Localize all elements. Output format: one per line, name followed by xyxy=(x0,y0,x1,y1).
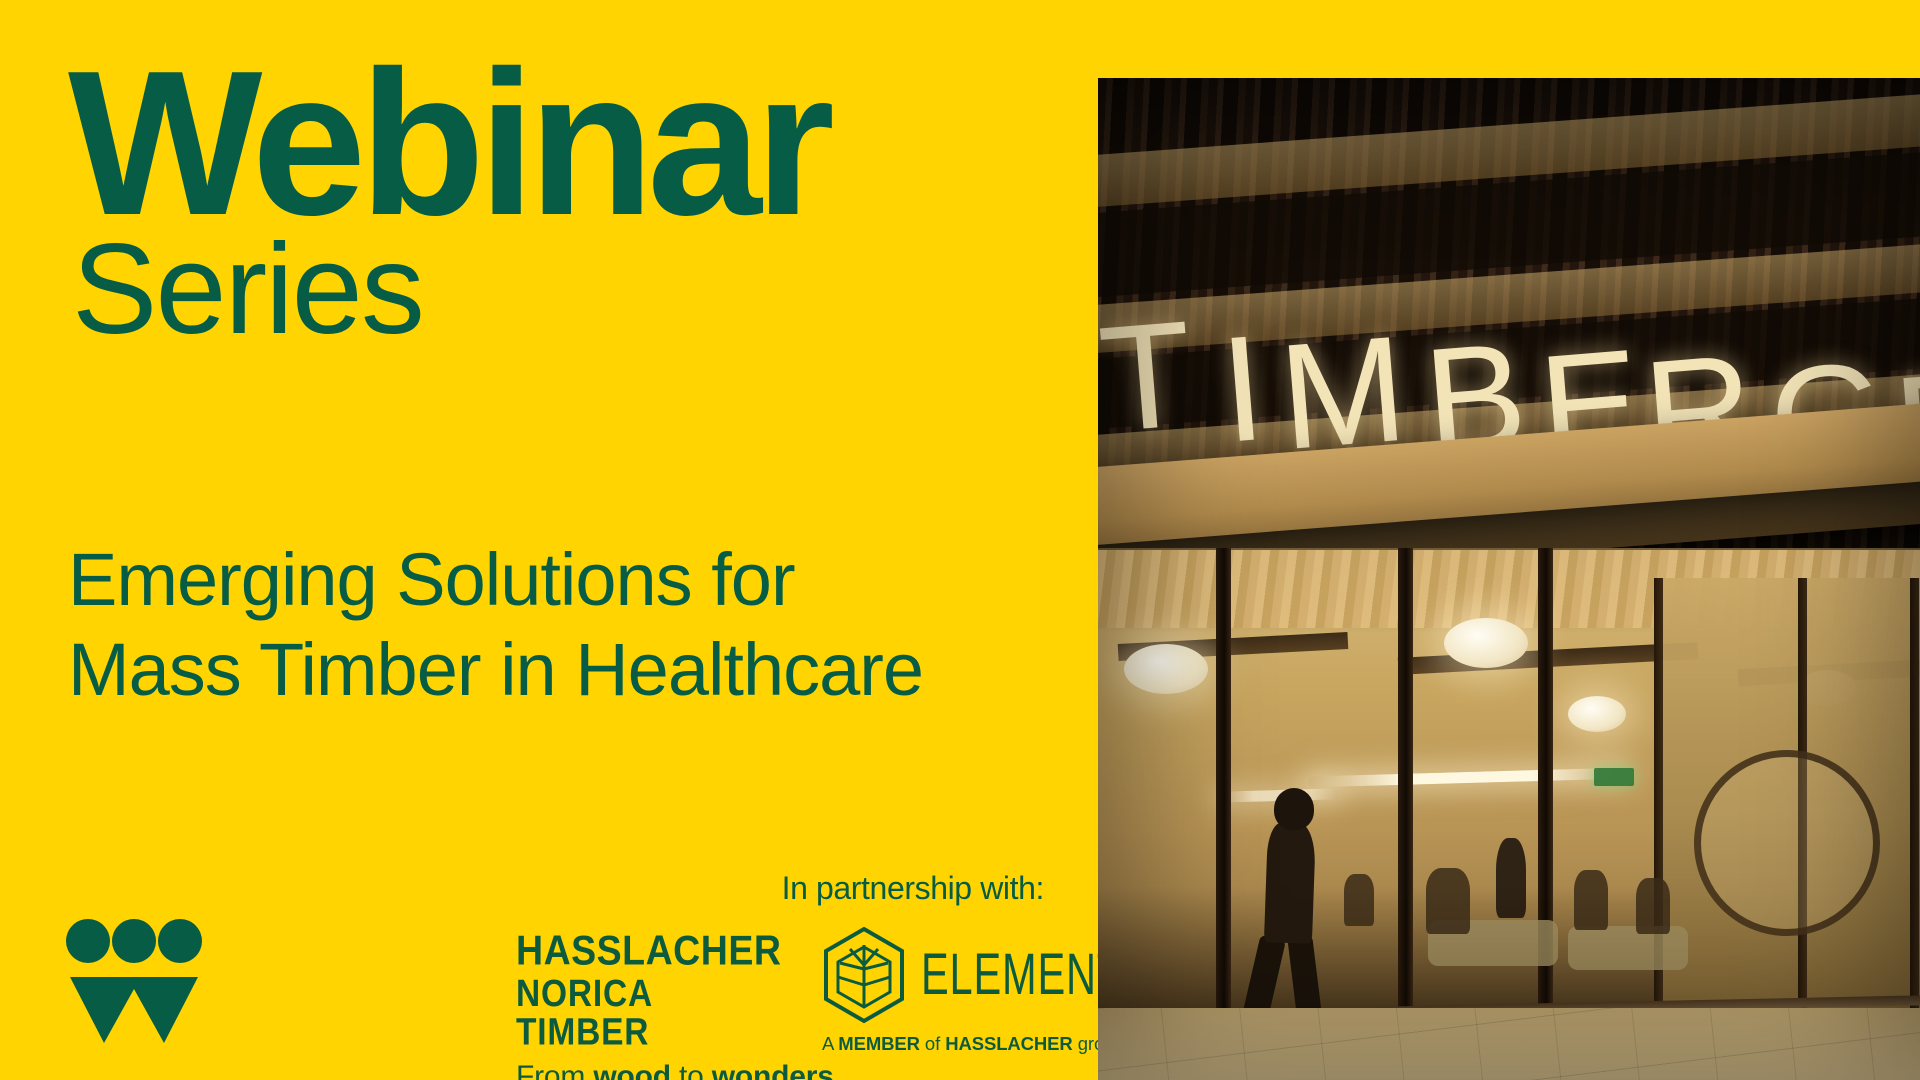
partner-logo-element5[interactable]: ELEMENT5 A MEMBER of HASSLACHER group xyxy=(818,925,1058,1055)
glazing-mullion xyxy=(1216,548,1231,1018)
lobby-person-seated xyxy=(1636,878,1670,934)
revolving-door xyxy=(1694,750,1880,936)
lobby-person-standing xyxy=(1496,838,1526,918)
lobby-person-seated xyxy=(1344,874,1374,926)
lobby-pendant-light xyxy=(1124,644,1208,694)
hexagon-tree-icon xyxy=(818,925,910,1025)
photo-pavement xyxy=(1098,1008,1920,1080)
glazing-mullion xyxy=(1398,548,1413,1018)
logo-dot-2 xyxy=(112,919,156,963)
tagline-part-3: to xyxy=(671,1060,712,1080)
subtitle-block: Emerging Solutions for Mass Timber in He… xyxy=(68,535,1008,716)
lobby-pendant-light xyxy=(1444,618,1528,668)
partner-logo-hasslacher[interactable]: HASSLACHER NORICA TIMBER From wood to wo… xyxy=(516,930,778,1080)
left-content-panel: Webinar Series Emerging Solutions for Ma… xyxy=(0,0,1098,1080)
tagline-part-1: From xyxy=(516,1060,593,1080)
building-photo: T I M B E R G E N xyxy=(1098,78,1920,1080)
hasslacher-tagline: From wood to wonders. xyxy=(516,1060,778,1080)
element5-wordmark-prefix: ELEMENT xyxy=(921,943,1123,1008)
lobby-person-seated xyxy=(1574,870,1608,930)
brand-w-logo xyxy=(64,915,204,1045)
hasslacher-wordmark-line1: HASSLACHER xyxy=(516,930,778,972)
pedestrian-body xyxy=(1264,822,1316,944)
sign-letter: T xyxy=(1098,298,1198,455)
tagline-part-4: wonders. xyxy=(712,1060,842,1080)
logo-dot-3 xyxy=(158,919,202,963)
partnership-area: In partnership with: HASSLACHER NORICA T… xyxy=(500,870,1060,1060)
subtitle-line-1: Emerging Solutions for xyxy=(68,535,1008,625)
logo-w-shape xyxy=(70,977,198,1043)
headline-block: Webinar Series xyxy=(68,48,828,354)
member-part-4: HASSLACHER xyxy=(945,1033,1072,1054)
logo-dot-1 xyxy=(66,919,110,963)
member-part-1: A xyxy=(822,1033,838,1054)
member-part-3: of xyxy=(920,1033,945,1054)
lobby-pendant-light xyxy=(1568,696,1626,732)
webinar-promo-slide: Webinar Series Emerging Solutions for Ma… xyxy=(0,0,1920,1080)
lobby-person-seated xyxy=(1426,868,1470,934)
exit-sign xyxy=(1594,768,1634,786)
lobby-sofa xyxy=(1568,926,1688,970)
partnership-label: In partnership with: xyxy=(782,870,1044,907)
hasslacher-wordmark-line2: NORICA TIMBER xyxy=(516,976,778,1051)
sign-letter: I xyxy=(1216,312,1270,465)
door-frame xyxy=(1910,578,1919,1008)
headline-primary: Webinar xyxy=(68,48,828,240)
element5-row: ELEMENT5 xyxy=(818,925,1058,1025)
subtitle-line-2: Mass Timber in Healthcare xyxy=(68,625,1008,715)
pedestrian-head xyxy=(1274,788,1314,830)
member-part-2: MEMBER xyxy=(838,1033,920,1054)
tagline-part-2: wood xyxy=(593,1060,671,1080)
element5-member-line: A MEMBER of HASSLACHER group xyxy=(822,1033,1058,1055)
